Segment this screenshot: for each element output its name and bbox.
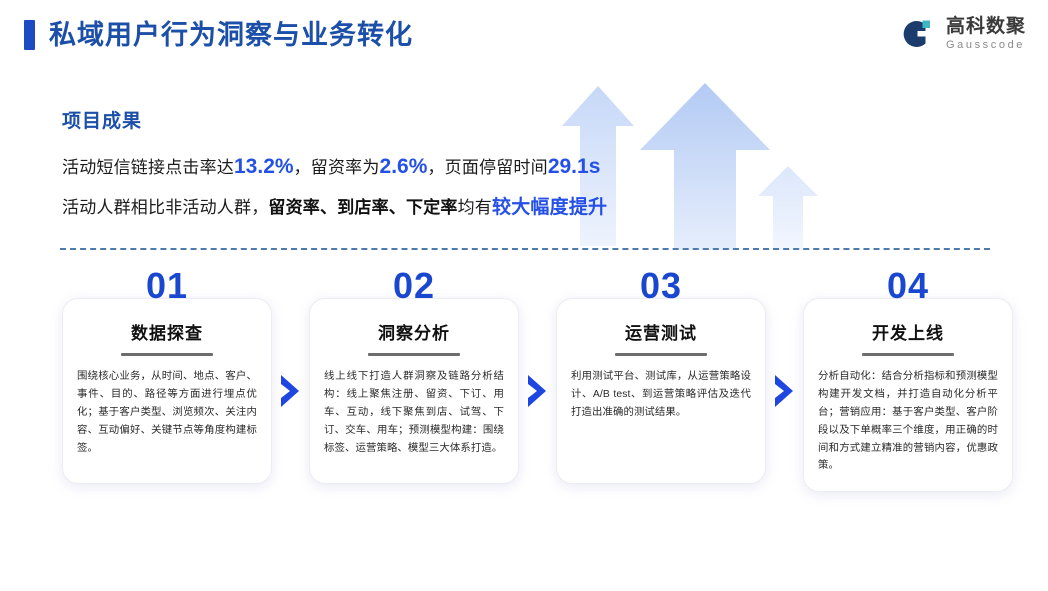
step-number-02: 02 bbox=[309, 268, 519, 304]
step-text-04: 分析自动化：结合分析指标和预测模型构建开发文档，并打造自动化分析平台；营销应用：… bbox=[818, 368, 998, 475]
slide-header: 私域用户行为洞察与业务转化 高科数聚 Gausscode bbox=[0, 0, 1048, 80]
step-text-02: 线上线下打造人群洞察及链路分析结构：线上聚焦注册、留资、下订、用车、互动，线下聚… bbox=[324, 368, 504, 457]
results-line1-part3: ，页面停留时间 bbox=[427, 158, 547, 177]
up-arrow-small-icon bbox=[758, 166, 818, 250]
step-card-01[interactable]: 01 数据探查 围绕核心业务，从时间、地点、客户、事件、目的、路径等方面进行埋点… bbox=[62, 272, 272, 484]
logo-text-group: 高科数聚 Gausscode bbox=[946, 17, 1026, 51]
logo-name-cn: 高科数聚 bbox=[946, 17, 1026, 37]
step-rule-01 bbox=[121, 353, 213, 356]
step-number-01: 01 bbox=[62, 268, 272, 304]
results-heading: 项目成果 bbox=[62, 106, 762, 133]
page-title: 私域用户行为洞察与业务转化 bbox=[49, 22, 413, 49]
brand-logo: 高科数聚 Gausscode bbox=[897, 14, 1026, 54]
metric-lead-rate: 2.6% bbox=[380, 155, 428, 178]
chevron-right-icon-1 bbox=[272, 298, 309, 484]
results-line2-highlight: 较大幅度提升 bbox=[492, 197, 607, 218]
section-divider bbox=[60, 248, 990, 250]
step-card-03[interactable]: 03 运营测试 利用测试平台、测试库，从运营策略设计、A/B test、到运营策… bbox=[556, 272, 766, 484]
slide-root: 私域用户行为洞察与业务转化 高科数聚 Gausscode 项目成果 活动短信链接… bbox=[0, 0, 1048, 591]
step-rule-04 bbox=[862, 353, 954, 356]
step-card-body-04[interactable]: 开发上线 分析自动化：结合分析指标和预测模型构建开发文档，并打造自动化分析平台；… bbox=[803, 298, 1013, 492]
process-steps: 01 数据探查 围绕核心业务，从时间、地点、客户、事件、目的、路径等方面进行埋点… bbox=[62, 272, 1002, 522]
step-rule-03 bbox=[615, 353, 707, 356]
metric-dwell-time: 29.1s bbox=[548, 155, 601, 178]
title-accent-bar bbox=[24, 20, 35, 50]
results-line2-part2: 均有 bbox=[458, 198, 492, 217]
step-title-01: 数据探查 bbox=[77, 319, 257, 344]
results-line2-part1: 活动人群相比非活动人群， bbox=[62, 198, 268, 217]
page-title-group: 私域用户行为洞察与业务转化 bbox=[24, 20, 413, 50]
results-line-2: 活动人群相比非活动人群，留资率、到店率、下定率均有较大幅度提升 bbox=[62, 193, 762, 222]
step-card-body-01[interactable]: 数据探查 围绕核心业务，从时间、地点、客户、事件、目的、路径等方面进行埋点优化；… bbox=[62, 298, 272, 484]
results-line-1: 活动短信链接点击率达13.2%，留资率为2.6%，页面停留时间29.1s bbox=[62, 151, 762, 184]
step-number-04: 04 bbox=[803, 268, 1013, 304]
step-card-04[interactable]: 04 开发上线 分析自动化：结合分析指标和预测模型构建开发文档，并打造自动化分析… bbox=[803, 272, 1013, 492]
results-section: 项目成果 活动短信链接点击率达13.2%，留资率为2.6%，页面停留时间29.1… bbox=[62, 106, 762, 231]
metric-click-rate: 13.2% bbox=[234, 155, 294, 178]
logo-mark-icon bbox=[897, 14, 937, 54]
step-number-03: 03 bbox=[556, 268, 766, 304]
step-title-04: 开发上线 bbox=[818, 319, 998, 344]
chevron-right-icon-3 bbox=[766, 298, 803, 484]
step-card-body-02[interactable]: 洞察分析 线上线下打造人群洞察及链路分析结构：线上聚焦注册、留资、下订、用车、互… bbox=[309, 298, 519, 484]
logo-name-en: Gausscode bbox=[946, 40, 1026, 51]
results-line2-strong: 留资率、到店率、下定率 bbox=[268, 198, 457, 217]
results-line1-part2: ，留资率为 bbox=[294, 158, 380, 177]
step-title-03: 运营测试 bbox=[571, 319, 751, 344]
step-title-02: 洞察分析 bbox=[324, 319, 504, 344]
step-text-01: 围绕核心业务，从时间、地点、客户、事件、目的、路径等方面进行埋点优化；基于客户类… bbox=[77, 368, 257, 457]
step-card-body-03[interactable]: 运营测试 利用测试平台、测试库，从运营策略设计、A/B test、到运营策略评估… bbox=[556, 298, 766, 484]
chevron-right-icon-2 bbox=[519, 298, 556, 484]
step-rule-02 bbox=[368, 353, 460, 356]
results-line1-part1: 活动短信链接点击率达 bbox=[62, 158, 234, 177]
step-text-03: 利用测试平台、测试库，从运营策略设计、A/B test、到运营策略评估及迭代打造… bbox=[571, 368, 751, 422]
step-card-02[interactable]: 02 洞察分析 线上线下打造人群洞察及链路分析结构：线上聚焦注册、留资、下订、用… bbox=[309, 272, 519, 484]
